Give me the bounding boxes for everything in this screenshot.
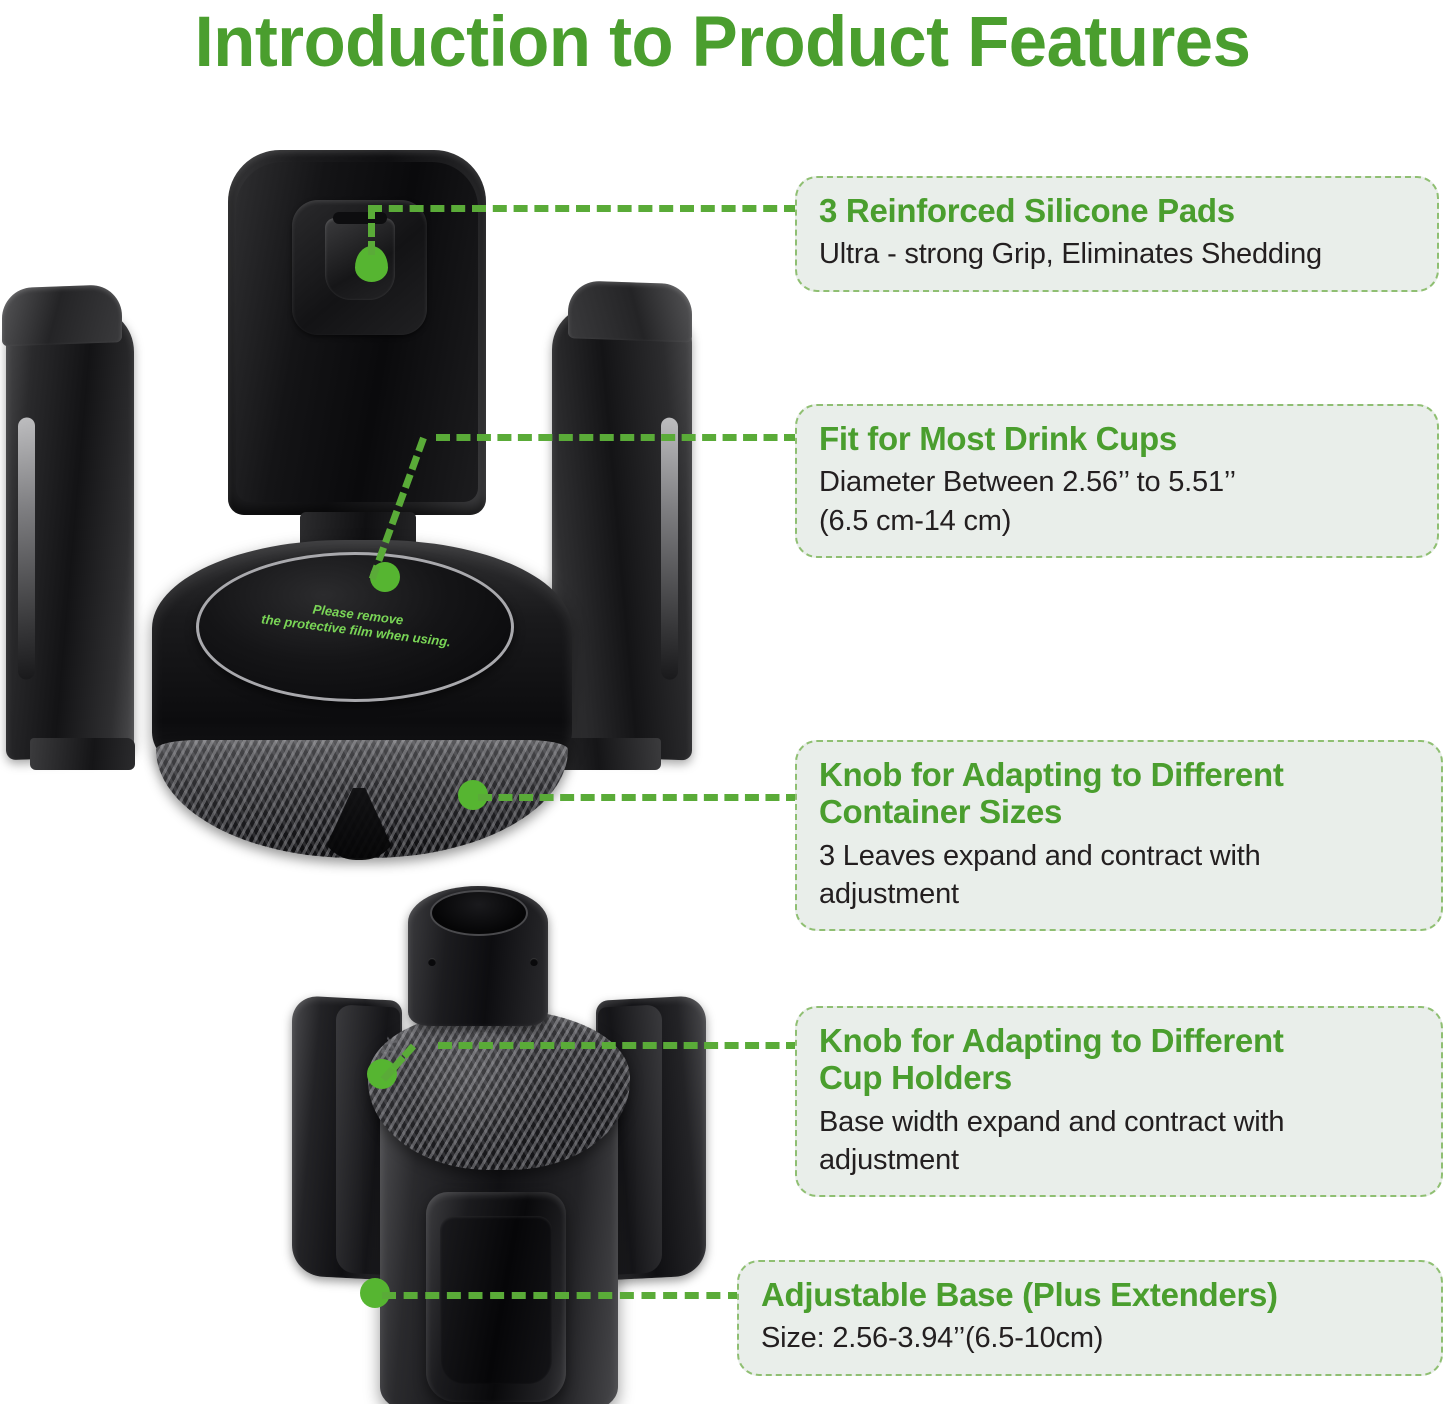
right-leaf-slot [661, 417, 678, 680]
leader-line-1-vertical [368, 205, 375, 255]
tube-screw-right [530, 958, 538, 966]
callout-fit-for-most-drink-cups[interactable]: Fit for Most Drink Cups Diameter Between… [795, 404, 1439, 558]
leader-line-3-horizontal [478, 794, 800, 801]
callout-5-heading: Adjustable Base (Plus Extenders) [761, 1276, 1419, 1313]
page-title: Introduction to Product Features [22, 2, 1424, 83]
right-leaf-foot [556, 738, 661, 770]
left-leaf-slot [18, 417, 35, 680]
leader-line-2-horizontal [436, 434, 798, 441]
callout-2-body: Diameter Between 2.56’’ to 5.51’’ (6.5 c… [819, 463, 1415, 540]
adjustable-base-tab-face [440, 1216, 552, 1384]
callout-3-body: 3 Leaves expand and contract with adjust… [819, 837, 1419, 914]
callout-3-heading: Knob for Adapting to Different Container… [819, 756, 1419, 831]
callout-knob-cup-holders[interactable]: Knob for Adapting to Different Cup Holde… [795, 1006, 1443, 1197]
callout-4-body: Base width expand and contract with adju… [819, 1103, 1419, 1180]
callout-1-body: Ultra - strong Grip, Eliminates Shedding [819, 235, 1415, 273]
charging-disc: Please remove the protective film when u… [196, 552, 514, 702]
mount-tube-opening [430, 890, 528, 936]
tube-screw-left [428, 958, 436, 966]
right-leaf-arm [552, 304, 692, 761]
callout-2-heading: Fit for Most Drink Cups [819, 420, 1415, 457]
left-leaf-foot [30, 738, 135, 770]
callout-knob-container-sizes[interactable]: Knob for Adapting to Different Container… [795, 740, 1443, 931]
callout-reinforced-silicone-pads[interactable]: 3 Reinforced Silicone Pads Ultra - stron… [795, 176, 1439, 292]
infographic-page: Introduction to Product Features Please … [0, 0, 1445, 1404]
callout-1-heading: 3 Reinforced Silicone Pads [819, 192, 1415, 229]
leader-line-1-horizontal [368, 205, 798, 212]
callout-adjustable-base[interactable]: Adjustable Base (Plus Extenders) Size: 2… [737, 1260, 1443, 1376]
left-leaf-arm [6, 306, 134, 760]
leader-line-4-horizontal [438, 1042, 800, 1049]
knob-highlight [422, 1032, 542, 1162]
pad-notice-text: Please remove the protective film when u… [226, 591, 488, 655]
callout-4-heading: Knob for Adapting to Different Cup Holde… [819, 1022, 1419, 1097]
leader-line-5-horizontal [382, 1292, 742, 1299]
product-image-lower-base: MAX [140, 880, 740, 1400]
callout-5-body: Size: 2.56-3.94’’(6.5-10cm) [761, 1319, 1419, 1357]
